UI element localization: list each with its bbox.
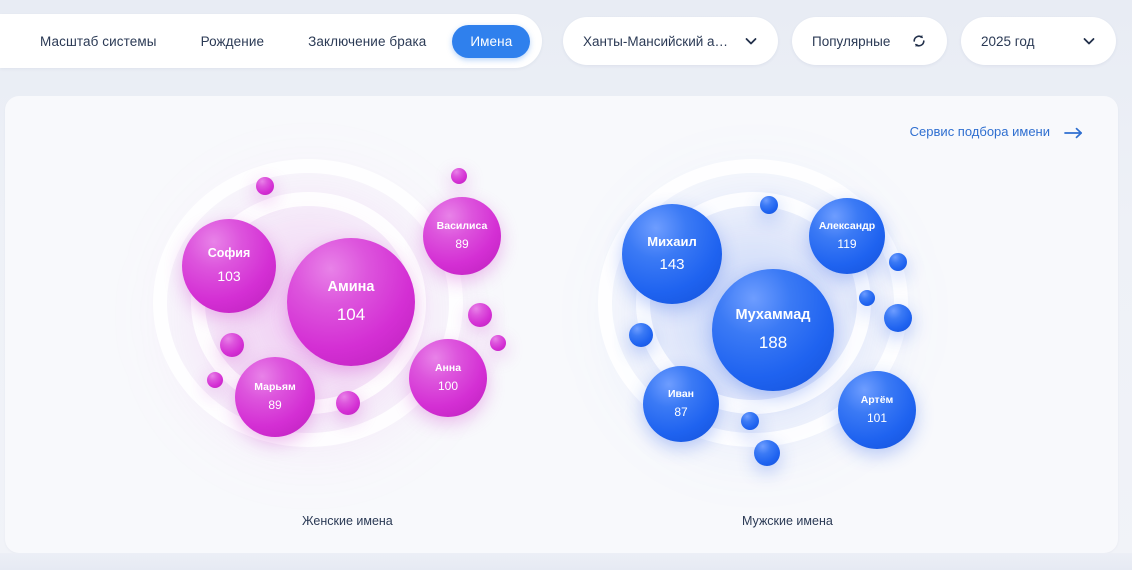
sort-toggle-value: Популярные: [812, 34, 890, 49]
satellite-bubble: [451, 168, 467, 184]
name-bubble-value: 87: [674, 406, 687, 419]
name-bubble-label: Михаил: [647, 235, 697, 249]
satellite-bubble: [754, 440, 780, 466]
tab-birth[interactable]: Рождение: [183, 25, 283, 58]
page-bottom-edge: [0, 553, 1132, 570]
satellite-bubble: [468, 303, 492, 327]
sync-icon: [911, 33, 927, 49]
chevron-down-icon: [1082, 34, 1096, 48]
name-bubble[interactable]: Анна100: [409, 339, 487, 417]
name-bubble[interactable]: Василиса89: [423, 197, 501, 275]
name-bubble-value: 188: [759, 334, 787, 353]
name-bubble[interactable]: Иван87: [643, 366, 719, 442]
year-select-value: 2025 год: [981, 34, 1035, 49]
tab-bar: Масштаб системы Рождение Заключение брак…: [0, 14, 542, 68]
satellite-bubble: [884, 304, 912, 332]
satellite-bubble: [741, 412, 759, 430]
name-bubble-label: Мухаммад: [736, 308, 811, 324]
name-bubble-value: 119: [837, 238, 856, 251]
name-bubble-label: Артём: [861, 395, 894, 407]
year-select[interactable]: 2025 год: [961, 17, 1116, 65]
name-bubble-value: 89: [268, 399, 281, 412]
name-bubble-label: София: [208, 247, 251, 261]
satellite-bubble: [207, 372, 223, 388]
satellite-bubble: [256, 177, 274, 195]
satellite-bubble: [760, 196, 778, 214]
name-bubble[interactable]: Артём101: [838, 371, 916, 449]
satellite-bubble: [629, 323, 653, 347]
name-bubble-label: Василиса: [437, 221, 488, 233]
name-bubble-label: Иван: [668, 389, 694, 401]
name-bubble-value: 89: [455, 238, 468, 251]
sort-toggle[interactable]: Популярные: [792, 17, 947, 65]
name-bubble[interactable]: Михаил143: [622, 204, 722, 304]
name-bubble-label: Анна: [435, 363, 461, 375]
name-bubble[interactable]: Мухаммад188: [712, 269, 834, 391]
male-chart-caption: Мужские имена: [742, 514, 833, 528]
name-bubble-label: Александр: [819, 221, 875, 233]
region-select-value: Ханты-Мансийский авто...: [583, 34, 730, 49]
filter-controls: Ханты-Мансийский авто... Популярные: [563, 14, 1116, 68]
tab-system-scale[interactable]: Масштаб системы: [22, 25, 175, 58]
male-names-bubble-chart: Мухаммад188Михаил143Александр119Артём101…: [540, 126, 1020, 476]
name-bubble-value: 104: [337, 306, 365, 325]
top-bar: Масштаб системы Рождение Заключение брак…: [0, 14, 1132, 68]
arrow-right-icon: [1064, 126, 1084, 138]
satellite-bubble: [889, 253, 907, 271]
tab-names[interactable]: Имена: [452, 25, 530, 58]
female-names-bubble-chart: Амина104София103Анна100Василиса89Марьям8…: [95, 126, 575, 476]
satellite-bubble: [490, 335, 506, 351]
satellite-bubble: [336, 391, 360, 415]
name-bubble-value: 143: [659, 257, 684, 274]
satellite-bubble: [859, 290, 875, 306]
name-bubble-label: Амина: [328, 280, 375, 296]
name-bubble[interactable]: Амина104: [287, 238, 415, 366]
chevron-down-icon: [744, 34, 758, 48]
tab-marriage[interactable]: Заключение брака: [290, 25, 444, 58]
names-statistics-page: Масштаб системы Рождение Заключение брак…: [0, 0, 1132, 570]
name-bubble[interactable]: Марьям89: [235, 357, 315, 437]
names-card: Сервис подбора имени Амина104София103Анн…: [5, 96, 1118, 553]
name-bubble-value: 101: [867, 412, 887, 425]
satellite-bubble: [220, 333, 244, 357]
name-bubble-label: Марьям: [254, 382, 295, 394]
name-bubble[interactable]: София103: [182, 219, 276, 313]
name-bubble-value: 103: [217, 269, 240, 284]
region-select[interactable]: Ханты-Мансийский авто...: [563, 17, 778, 65]
name-bubble[interactable]: Александр119: [809, 198, 885, 274]
name-bubble-value: 100: [438, 380, 458, 393]
female-chart-caption: Женские имена: [302, 514, 393, 528]
